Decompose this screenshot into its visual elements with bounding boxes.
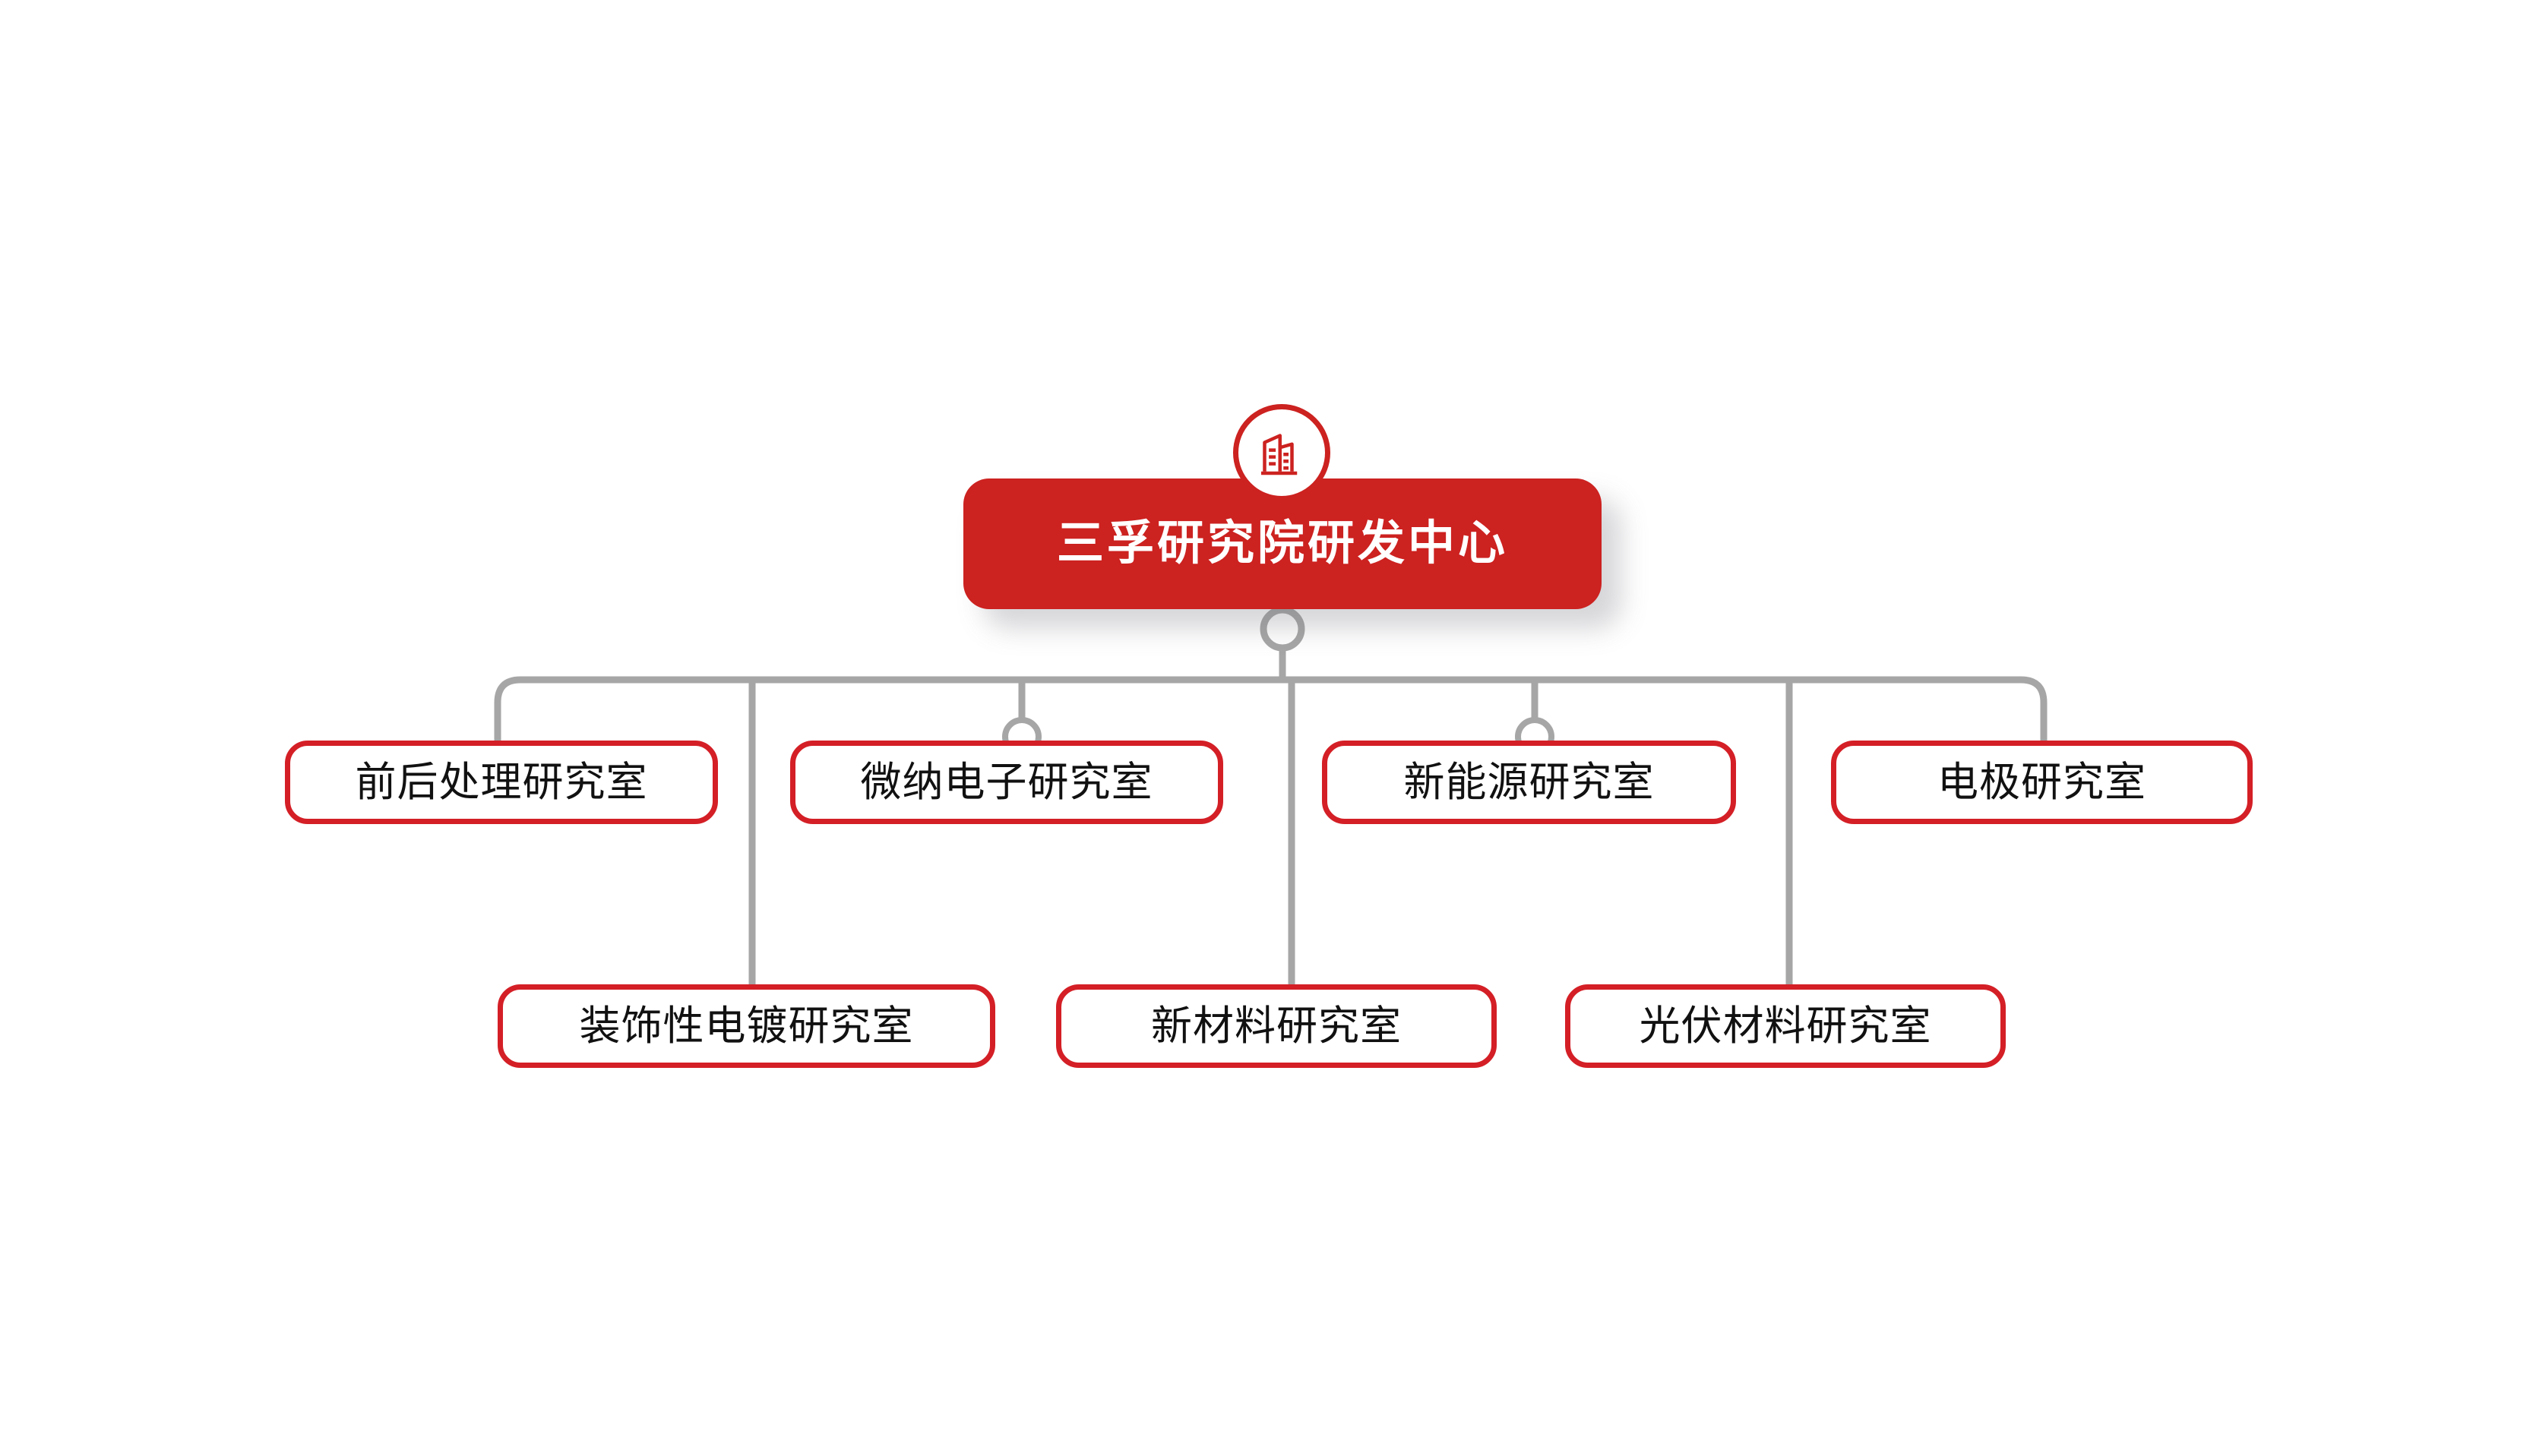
node-level1-3-label: 新能源研究室 (1404, 762, 1655, 803)
node-level1-2-label: 微纳电子研究室 (861, 762, 1153, 803)
node-level2-1[interactable]: 装饰性电镀研究室 (498, 984, 995, 1068)
node-level1-2[interactable]: 微纳电子研究室 (790, 741, 1223, 824)
root-ring-connector (1263, 610, 1301, 648)
org-chart-canvas: 三孚研究院研发中心 前后处理研究室 (0, 0, 2533, 1456)
node-level1-4[interactable]: 电极研究室 (1831, 741, 2253, 824)
horizontal-bus (498, 680, 2044, 741)
root-node[interactable]: 三孚研究院研发中心 (963, 478, 1602, 609)
connector-lines (0, 0, 2533, 1456)
node-level1-4-label: 电极研究室 (1937, 762, 2146, 803)
node-level2-3-label: 光伏材料研究室 (1640, 1006, 1932, 1047)
node-level2-2-label: 新材料研究室 (1151, 1006, 1402, 1047)
node-level2-2[interactable]: 新材料研究室 (1056, 984, 1497, 1068)
node-level2-1-label: 装饰性电镀研究室 (580, 1006, 914, 1047)
node-level1-3[interactable]: 新能源研究室 (1322, 741, 1736, 824)
node-level1-1-label: 前后处理研究室 (356, 762, 648, 803)
root-node-label: 三孚研究院研发中心 (1057, 520, 1508, 567)
building-icon (1233, 404, 1330, 501)
node-level2-3[interactable]: 光伏材料研究室 (1565, 984, 2006, 1068)
node-level1-1[interactable]: 前后处理研究室 (285, 741, 718, 824)
